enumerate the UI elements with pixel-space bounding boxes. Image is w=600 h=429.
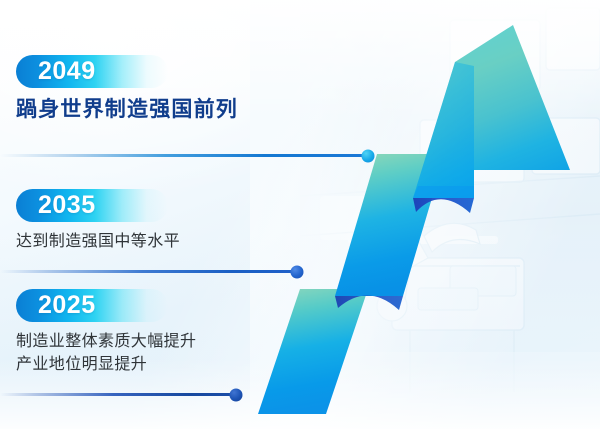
year-badge-2025: 2025 <box>16 289 168 322</box>
connector-line-2035 <box>0 270 297 273</box>
connector-dot <box>230 388 243 401</box>
infographic-root: 2049 踻身世界制造强国前列 2035 达到制造强国中等水平 2025 制造业… <box>0 0 600 429</box>
year-label: 2025 <box>38 293 96 318</box>
milestone-2035: 2035 达到制造强国中等水平 <box>16 189 180 253</box>
connector-line-segment <box>0 393 236 396</box>
connector-dot <box>362 149 375 162</box>
milestone-2025: 2025 制造业整体素质大幅提升 产业地位明显提升 <box>16 289 196 376</box>
milestone-2049: 2049 踻身世界制造强国前列 <box>16 55 238 123</box>
milestone-description: 制造业整体素质大幅提升 产业地位明显提升 <box>16 330 196 376</box>
description-line: 制造业整体素质大幅提升 <box>16 330 196 353</box>
year-badge-2035: 2035 <box>16 189 168 222</box>
year-label: 2035 <box>38 193 96 218</box>
connector-line-2025 <box>0 393 236 396</box>
background-photo-fade <box>250 0 400 429</box>
connector-dot <box>291 265 304 278</box>
description-line: 产业地位明显提升 <box>16 353 196 376</box>
description-line: 达到制造强国中等水平 <box>16 230 180 253</box>
year-label: 2049 <box>38 59 96 84</box>
milestone-description: 达到制造强国中等水平 <box>16 230 180 253</box>
connector-line-segment <box>0 270 297 273</box>
connector-line-segment <box>0 154 368 157</box>
connector-line-2049 <box>0 154 368 157</box>
year-badge-2049: 2049 <box>16 55 168 88</box>
milestone-headline: 踻身世界制造强国前列 <box>16 97 238 123</box>
